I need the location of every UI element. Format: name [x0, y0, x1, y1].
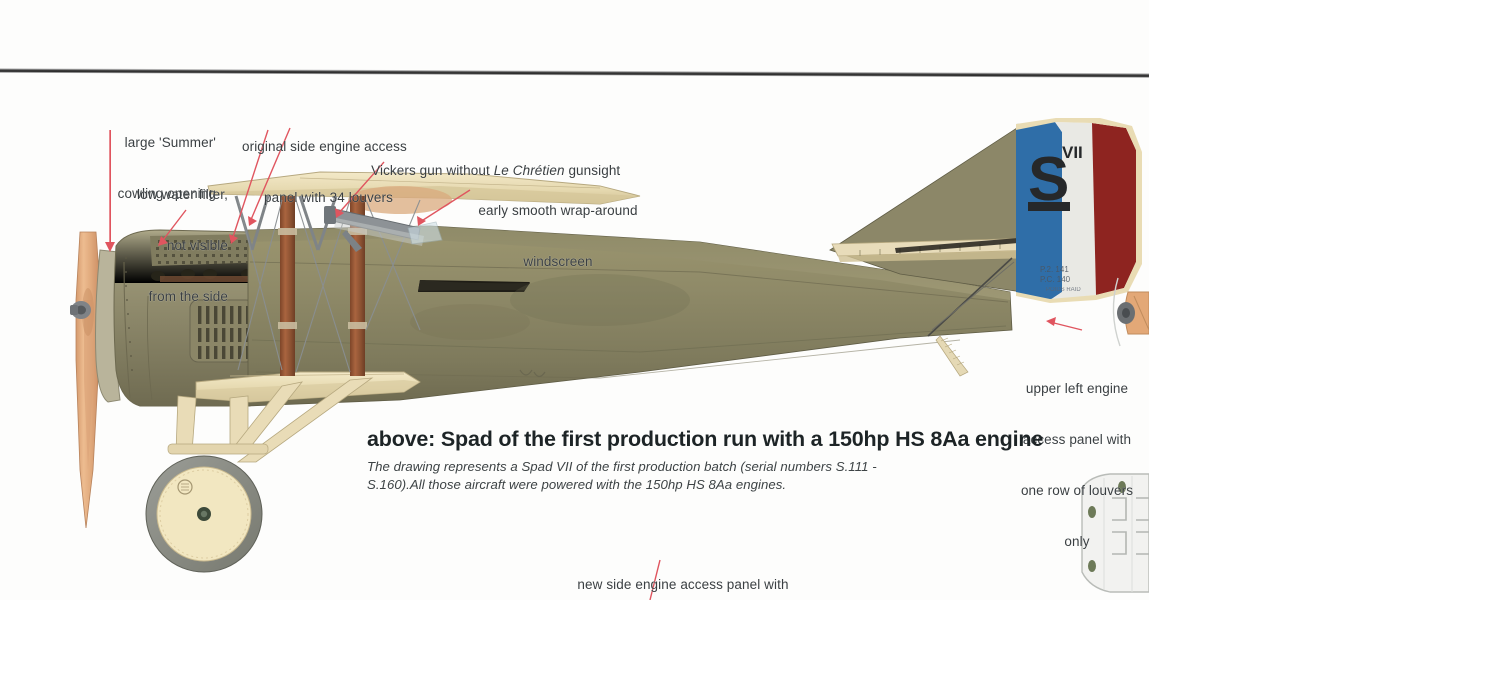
annotation-line: large 'Summer': [96, 134, 216, 151]
caption-body-line-2: S.160).All those aircraft were powered w…: [367, 477, 786, 492]
annotation-line: low water filter,: [108, 186, 228, 203]
landing-gear: [146, 378, 372, 572]
svg-text:P.C. 140: P.C. 140: [1040, 275, 1071, 284]
svg-text:VII: VII: [1062, 143, 1083, 162]
annotation-le-chretien-gunsight: Le Chrétien gunsight: [696, 584, 846, 600]
main-wheel: [146, 456, 262, 572]
annotation-line: windscreen: [458, 253, 658, 270]
svg-text:P.2. 141: P.2. 141: [1040, 265, 1069, 274]
annotation-line: upper left engine: [1000, 380, 1149, 397]
annotation-line: from the side: [108, 288, 228, 305]
annotation-windscreen: early smooth wrap-around windscreen: [458, 168, 658, 304]
annotation-water-filter: low water filter, not visible from the s…: [108, 152, 228, 339]
annotation-line: only: [1000, 533, 1149, 550]
annotation-upper-left-access-panel: upper left engine access panel with one …: [1000, 346, 1149, 584]
annotation-line: early smooth wrap-around: [458, 202, 658, 219]
svg-text:POIDS RAID: POIDS RAID: [1046, 287, 1081, 293]
annotation-line: not visible: [108, 237, 228, 254]
caption-title: above: Spad of the first production run …: [367, 427, 1043, 452]
propeller: [70, 232, 101, 528]
rudder-roundel: S VII P.2. 141 P.C. 140 POIDS RAID: [1016, 118, 1142, 303]
screenshot-root: S VII P.2. 141 P.C. 140 POIDS RAID: [0, 0, 1496, 682]
scanned-page-area: S VII P.2. 141 P.C. 140 POIDS RAID: [0, 0, 1149, 600]
caption-body-line-1: The drawing represents a Spad VII of the…: [367, 459, 877, 474]
annotation-line: one row of louvers: [1000, 482, 1149, 499]
